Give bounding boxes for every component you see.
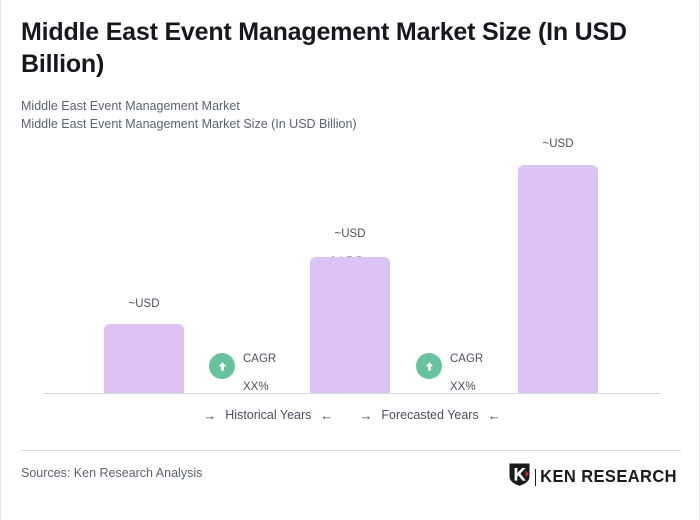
bar-forecast[interactable] <box>518 165 598 394</box>
cagr-forecast-line1: CAGR <box>450 353 483 365</box>
bar-base-year[interactable] <box>310 257 390 394</box>
arrow-up-icon <box>416 353 442 379</box>
shield-k-icon <box>508 462 531 492</box>
cagr-forecast-text: CAGR XX% <box>450 338 483 394</box>
cagr-historical[interactable]: CAGR XX% <box>209 338 276 394</box>
logo-wordmark: KEN RESEARCH <box>540 467 677 487</box>
period-forecasted[interactable]: → Forecasted Years ← <box>359 408 500 422</box>
bar-value-line1-2: ~USD <box>335 228 366 240</box>
arrow-right-icon: → <box>359 409 372 422</box>
bar-chart: ~USD XX Bn CAGR XX% ~USD 34.5 Bn <box>1 0 700 440</box>
cagr-historical-line2: XX% <box>243 381 269 393</box>
cagr-forecast[interactable]: CAGR XX% <box>416 338 483 394</box>
logo-divider <box>535 469 537 486</box>
chart-slide: Middle East Event Management Market Size… <box>0 0 700 520</box>
period-historical-label: Historical Years <box>225 408 311 422</box>
cagr-forecast-line2: XX% <box>450 381 476 393</box>
arrow-up-icon <box>209 353 235 379</box>
bar-value-line1-3: ~USD <box>543 138 574 150</box>
bar-historical[interactable] <box>104 324 184 394</box>
arrow-right-icon: → <box>203 409 216 422</box>
period-legend: → Historical Years ← → Forecasted Years … <box>43 408 661 422</box>
bar-value-line1-1: ~USD <box>129 298 160 310</box>
sources-text: Sources: Ken Research Analysis <box>21 466 202 480</box>
x-axis-line <box>43 393 661 394</box>
cagr-historical-text: CAGR XX% <box>243 338 276 394</box>
cagr-historical-line1: CAGR <box>243 353 276 365</box>
period-historical[interactable]: → Historical Years ← <box>203 408 333 422</box>
arrow-left-icon: ← <box>488 409 501 422</box>
period-forecasted-label: Forecasted Years <box>381 408 478 422</box>
ken-research-logo: KEN RESEARCH <box>508 462 677 492</box>
footer-divider <box>21 450 681 451</box>
arrow-left-icon: ← <box>320 409 333 422</box>
